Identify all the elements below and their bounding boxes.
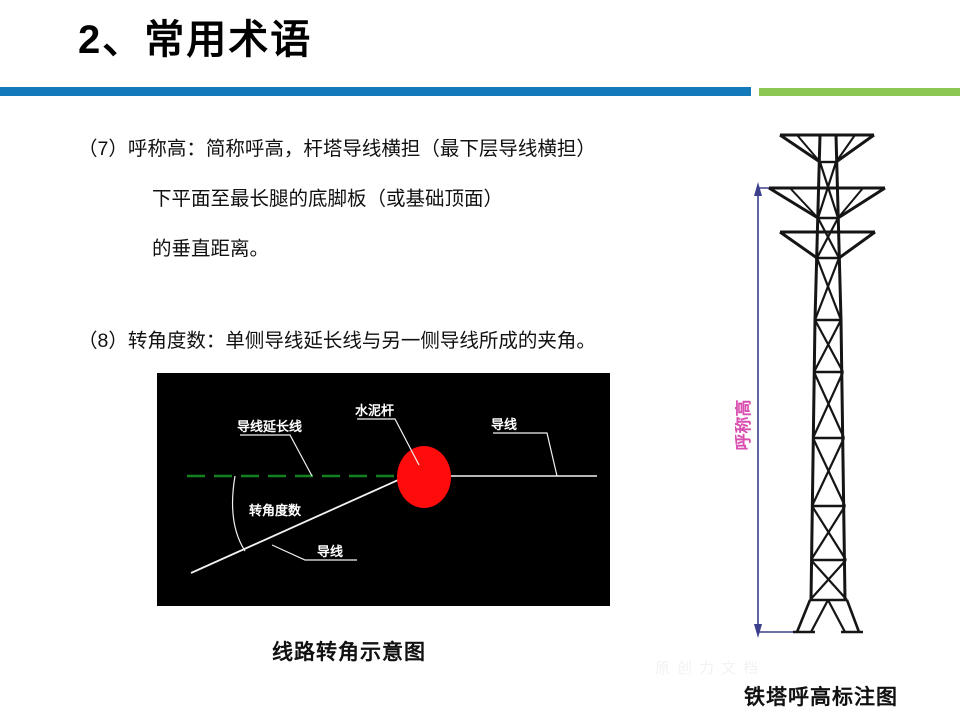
tower-height-diagram: 呼称高: [735, 120, 960, 645]
term-8-line-1: （8）转角度数：单侧导线延长线与另一侧导线所成的夹角。: [78, 332, 596, 352]
pole-marker-icon: [397, 446, 451, 508]
page-title: 2、常用术语: [78, 16, 312, 64]
dimension-label-text: 呼称高: [735, 400, 753, 451]
diagram-label-turn-angle: 转角度数: [249, 503, 302, 518]
figure-right-caption: 铁塔呼高标注图: [744, 681, 898, 711]
term-7-line-3: 的垂直距离。: [152, 240, 269, 260]
diagram-label-conductor-right: 导线: [491, 417, 517, 432]
lattice-tower-drawing: [769, 135, 885, 632]
diagram-label-extension-line: 导线延长线: [237, 419, 302, 434]
dimension-arrow-bottom: [754, 624, 762, 638]
dimension-arrow-top: [754, 182, 762, 196]
divider-bar-green: [759, 88, 960, 96]
figure-left-caption: 线路转角示意图: [272, 636, 426, 666]
diagram-label-conductor-bottom: 导线: [317, 544, 343, 559]
diagram-label-pole: 水泥杆: [355, 403, 394, 418]
term-7-line-1: （7）呼称高：简称呼高，杆塔导线横担（最下层导线横担）: [78, 140, 596, 160]
term-7-line-2: 下平面至最长腿的底脚板（或基础顶面）: [152, 190, 503, 210]
divider-bar-blue: [0, 87, 751, 96]
dimension-line: [758, 188, 815, 632]
line-turn-angle-diagram: 导线延长线 水泥杆 导线 转角度数 导线: [157, 373, 610, 606]
watermark-text: 原创力文档: [655, 657, 765, 678]
